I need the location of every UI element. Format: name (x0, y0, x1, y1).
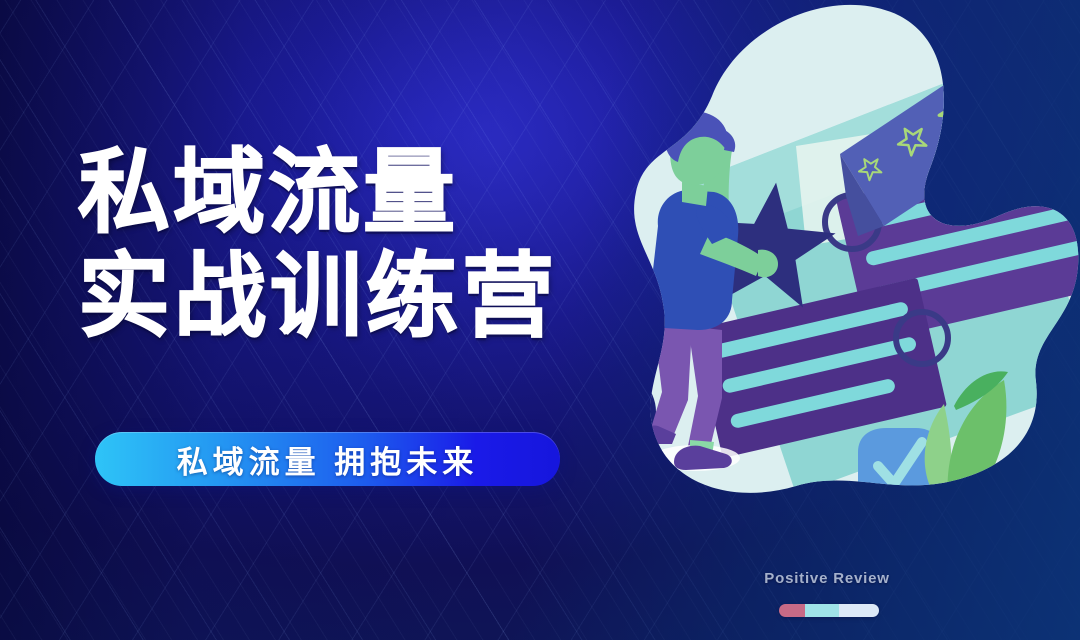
segment-cyan (805, 604, 839, 617)
subtitle-pill[interactable]: 私域流量 拥抱未来 (95, 432, 560, 486)
footer-progress-bar[interactable] (779, 604, 879, 617)
person-neck (682, 182, 708, 206)
title-line-2: 实战训练营 (78, 246, 638, 350)
star-5 (1018, 17, 1080, 78)
page-title: 私域流量 实战训练营 (78, 142, 638, 350)
positive-review-illustration (600, 0, 1080, 640)
segment-pale (839, 604, 879, 617)
subtitle-pill-label: 私域流量 拥抱未来 (177, 437, 479, 482)
shadow-blob-2 (600, 368, 656, 456)
footer-caption: Positive Review (737, 570, 917, 587)
poster-canvas: 私域流量 实战训练营 私域流量 拥抱未来 Positive Review (0, 0, 1080, 640)
segment-rose (779, 604, 805, 617)
star-4 (975, 53, 1029, 106)
title-line-1: 私域流量 (78, 142, 638, 246)
